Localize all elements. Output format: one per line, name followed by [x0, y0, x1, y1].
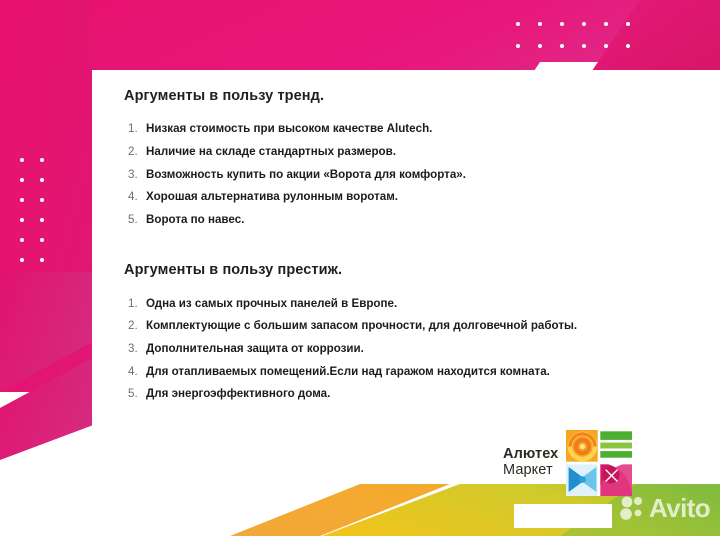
alutech-logo-mark-icon [566, 430, 632, 496]
section-trend: Аргументы в пользу тренд. Низкая стоимос… [124, 88, 652, 236]
list-item: Комплектующие с большим запасом прочност… [146, 320, 652, 343]
section-prestige: Аргументы в пользу престиж. Одна из самы… [124, 262, 652, 410]
decorative-dot [40, 178, 44, 182]
decorative-dot [40, 218, 44, 222]
brand-wordmark: Алютех Маркет [503, 447, 558, 478]
slide-canvas: Аргументы в пользу тренд. Низкая стоимос… [0, 0, 720, 536]
decorative-dot [516, 44, 520, 48]
list-item: Для энергоэффективного дома. [146, 388, 652, 411]
decorative-dot [20, 198, 24, 202]
decorative-dot-grid-left [20, 158, 44, 262]
list-item: Низкая стоимость при высоком качестве Al… [146, 123, 652, 146]
decorative-dot [538, 22, 542, 26]
decorative-dot [604, 22, 608, 26]
decorative-dot [40, 238, 44, 242]
list-item: Одна из самых прочных панелей в Европе. [146, 298, 652, 321]
list-item: Наличие на складе стандартных размеров. [146, 146, 652, 169]
decorative-dot [40, 258, 44, 262]
decorative-dot [582, 44, 586, 48]
section-title-prestige: Аргументы в пользу престиж. [124, 262, 652, 279]
decorative-dot [582, 22, 586, 26]
decorative-dot [626, 44, 630, 48]
avito-wordmark: Avito [649, 495, 710, 521]
decorative-dot [40, 158, 44, 162]
argument-list-prestige: Одна из самых прочных панелей в Европе. … [124, 298, 652, 411]
decorative-dot [604, 44, 608, 48]
brand-line-alutech: Алютех [503, 447, 558, 463]
decorative-dot [560, 22, 564, 26]
decorative-dot [560, 44, 564, 48]
decorative-dot [626, 22, 630, 26]
list-item: Возможность купить по акции «Ворота для … [146, 169, 652, 192]
decorative-dot [20, 178, 24, 182]
list-item: Ворота по навес. [146, 214, 652, 237]
decorative-dot [516, 22, 520, 26]
list-item: Хорошая альтернатива рулонным воротам. [146, 191, 652, 214]
argument-list-trend: Низкая стоимость при высоком качестве Al… [124, 123, 652, 236]
decorative-dot [20, 258, 24, 262]
list-item: Дополнительная защита от коррозии. [146, 343, 652, 366]
slide-body: Аргументы в пользу тренд. Низкая стоимос… [92, 70, 652, 415]
decorative-dot-grid-top-right [516, 22, 632, 52]
decorative-dot [20, 158, 24, 162]
decorative-dot [40, 198, 44, 202]
list-item: Для отапливаемых помещений.Если над гара… [146, 366, 652, 389]
blank-white-strip [514, 504, 612, 528]
section-title-trend: Аргументы в пользу тренд. [124, 88, 652, 105]
decorative-dot [20, 218, 24, 222]
brand-line-market: Маркет [503, 463, 558, 479]
decorative-dot [20, 238, 24, 242]
avito-watermark: Avito [620, 495, 710, 521]
brand-lockup: Алютех Маркет [503, 430, 632, 496]
decorative-dot [538, 44, 542, 48]
avito-dots-icon [620, 495, 646, 521]
